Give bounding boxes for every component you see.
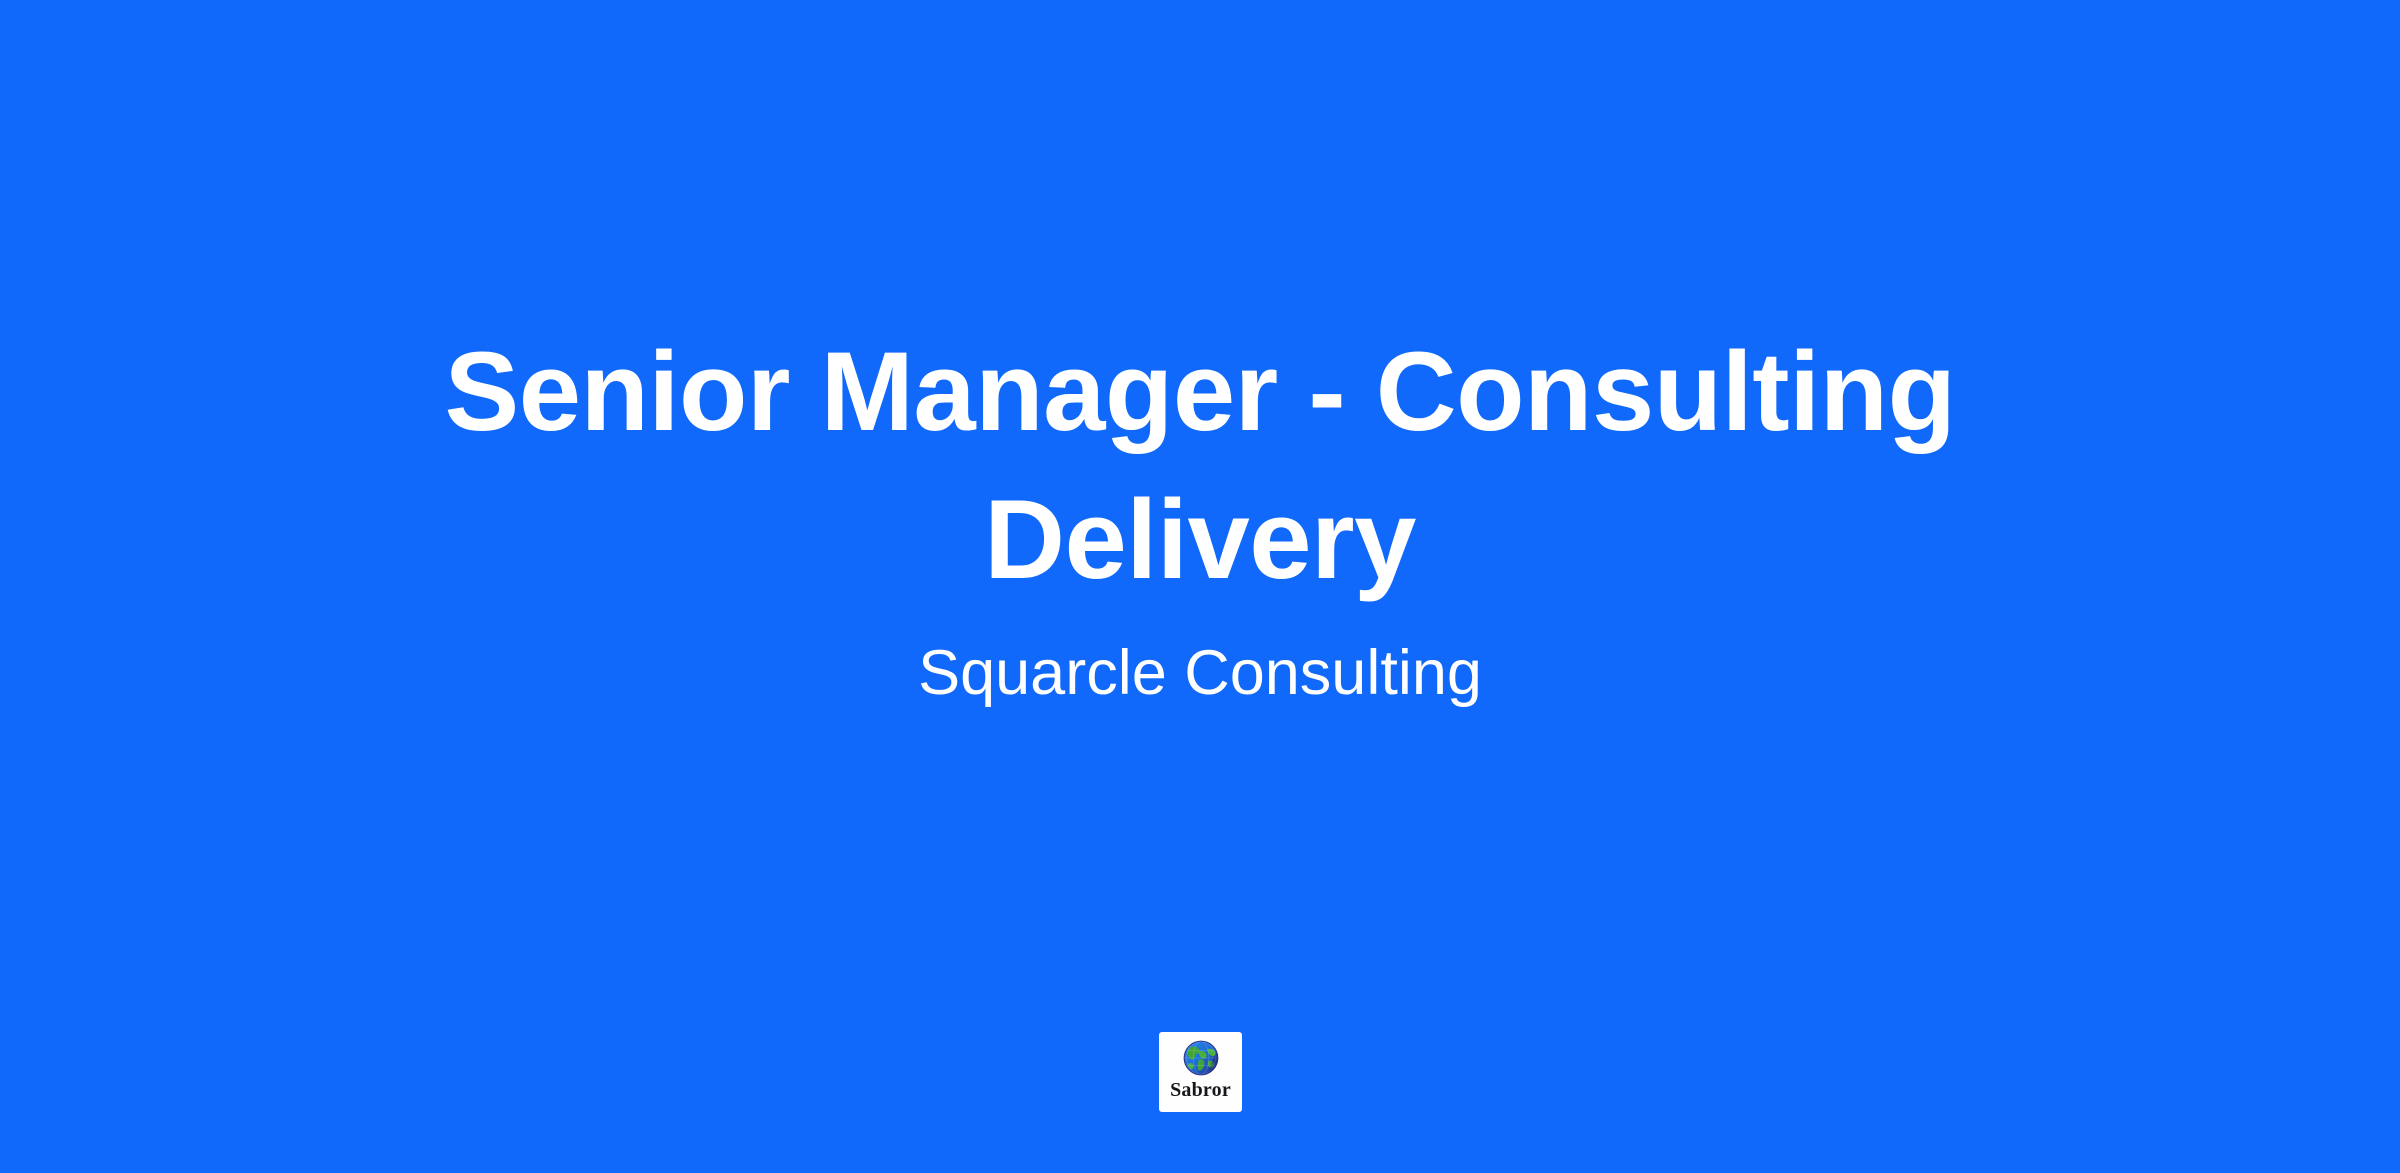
brand-logo: Sabror bbox=[1159, 1032, 1242, 1112]
brand-wordmark: Sabror bbox=[1170, 1080, 1231, 1100]
page-title: Senior Manager - Consulting Delivery bbox=[390, 318, 2010, 614]
company-name: Squarcle Consulting bbox=[918, 636, 1482, 712]
job-share-card: Senior Manager - Consulting Delivery Squ… bbox=[0, 0, 2400, 1173]
hero-section: Senior Manager - Consulting Delivery Squ… bbox=[0, 318, 2400, 711]
globe-icon bbox=[1180, 1037, 1222, 1079]
